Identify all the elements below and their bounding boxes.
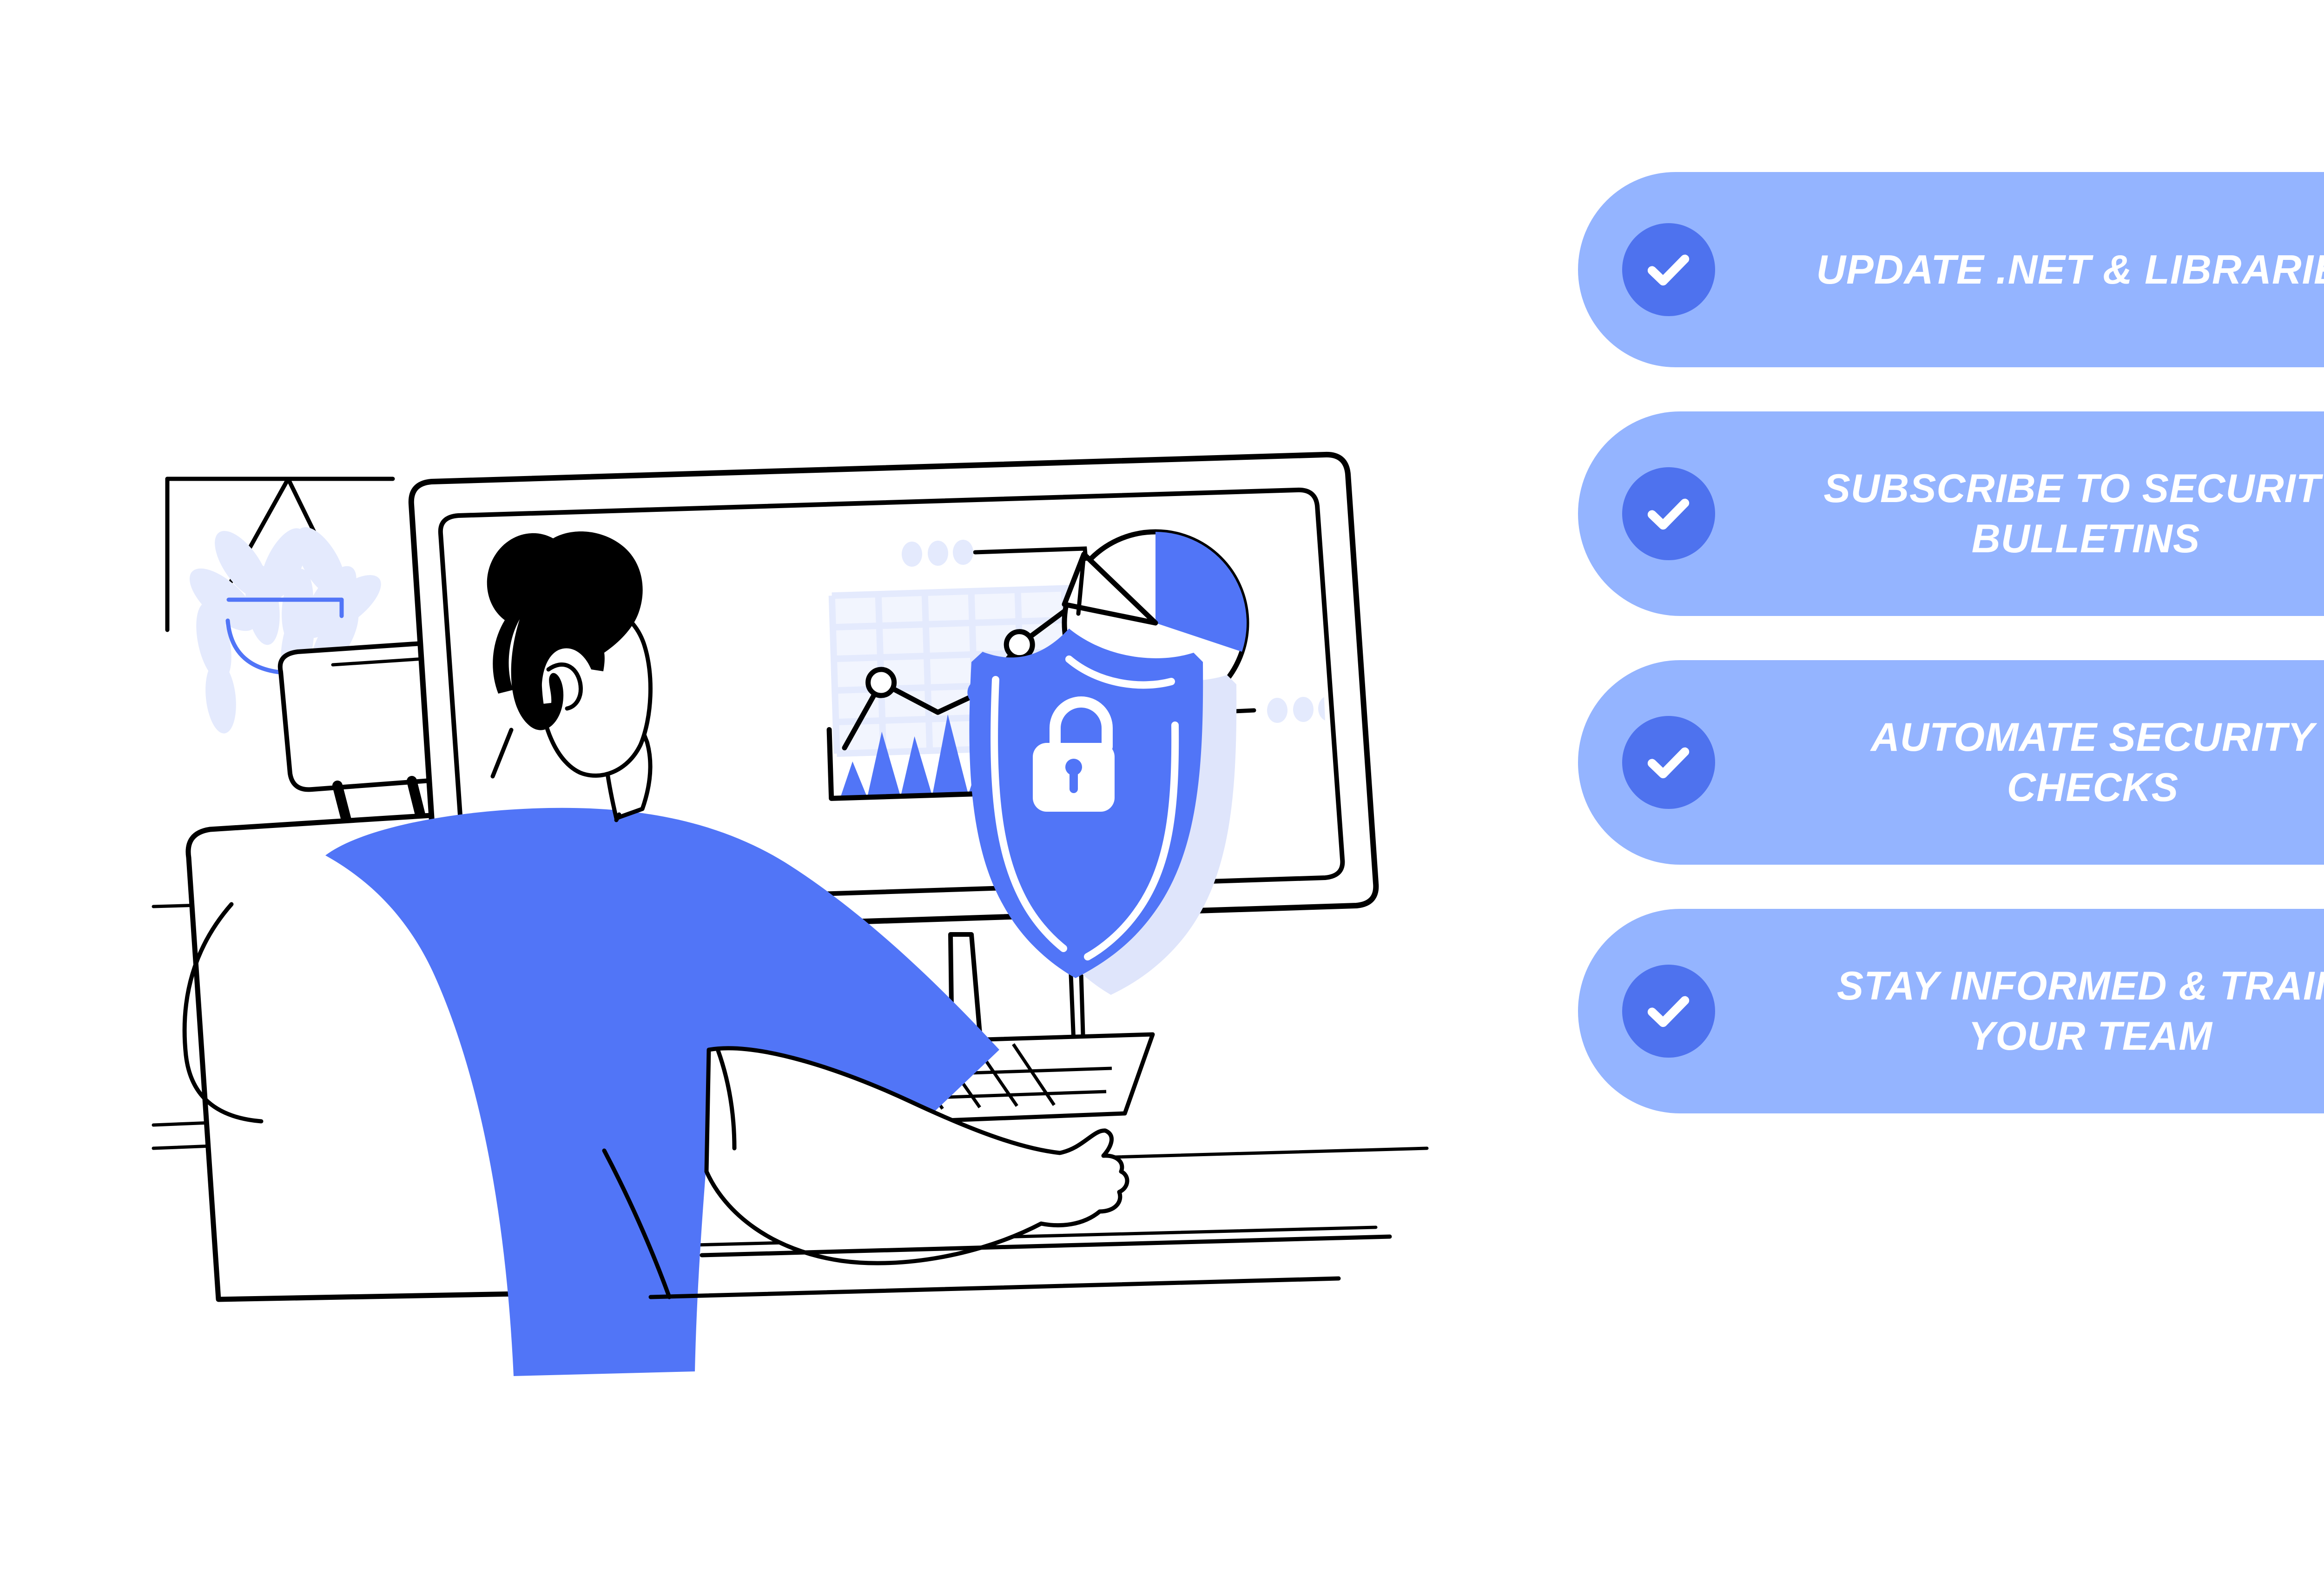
checklist-item-label: STAY INFORMED & TRAIN YOUR TEAM	[1715, 961, 2324, 1062]
status-dots-top	[902, 540, 973, 567]
check-icon	[1622, 965, 1715, 1058]
checklist-item-automate-security-checks[interactable]: AUTOMATE SECURITY CHECKS	[1578, 660, 2324, 865]
checklist-item-label: AUTOMATE SECURITY CHECKS	[1715, 712, 2324, 813]
checklist-item-stay-informed-train-team[interactable]: STAY INFORMED & TRAIN YOUR TEAM	[1578, 909, 2324, 1113]
slide-canvas: UPDATE .NET & LIBRARIES SUBSCRIBE TO SEC…	[0, 0, 2324, 1569]
checklist-item-update-net-libraries[interactable]: UPDATE .NET & LIBRARIES	[1578, 172, 2324, 367]
check-icon	[1622, 467, 1715, 560]
checklist-item-subscribe-security-bulletins[interactable]: SUBSCRIBE TO SECURITY BULLETINS	[1578, 411, 2324, 616]
checklist-item-label: SUBSCRIBE TO SECURITY BULLETINS	[1715, 463, 2324, 564]
security-workstation-illustration	[0, 0, 1487, 1569]
desk-edge	[651, 1237, 1390, 1297]
check-icon	[1622, 223, 1715, 316]
check-icon	[1622, 716, 1715, 809]
checklist-item-label: UPDATE .NET & LIBRARIES	[1715, 244, 2324, 296]
recommendations-checklist: UPDATE .NET & LIBRARIES SUBSCRIBE TO SEC…	[1578, 172, 2324, 1311]
